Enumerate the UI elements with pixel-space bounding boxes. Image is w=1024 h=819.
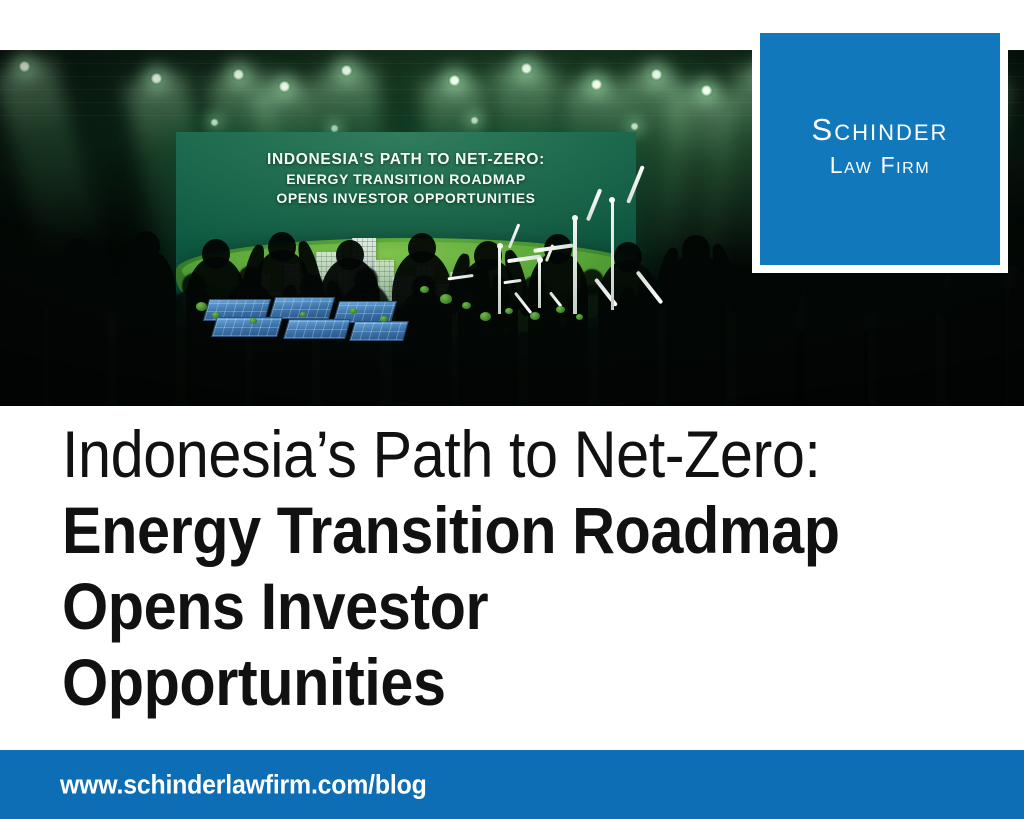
- footer-bar: www.schinderlawfirm.com/blog: [0, 750, 1024, 819]
- tree: [420, 286, 429, 293]
- website-url[interactable]: www.schinderlawfirm.com/blog: [60, 769, 427, 800]
- headline-regular: Indonesia’s Path to Net-Zero:: [62, 417, 820, 491]
- tree: [576, 314, 583, 320]
- tree: [480, 312, 491, 321]
- logo-blue-box: Schinder Law Firm: [760, 33, 1000, 265]
- tree: [556, 306, 565, 313]
- tree: [250, 318, 257, 324]
- tree: [530, 312, 540, 320]
- logo-name-line: Schinder: [760, 114, 1000, 147]
- tree: [380, 316, 388, 322]
- tree: [350, 308, 357, 314]
- page-title: Indonesia’s Path to Net-Zero: Energy Tra…: [62, 416, 854, 720]
- logo-tagline-line: Law Firm: [760, 152, 1000, 179]
- headline-bold: Energy Transition Roadmap Opens Investor…: [62, 493, 840, 719]
- logo-text: Schinder Law Firm: [760, 114, 1000, 179]
- tree: [196, 302, 207, 311]
- tree: [505, 308, 513, 314]
- blog-promo-card: INDONESIA'S PATH TO NET-ZERO: ENERGY TRA…: [0, 0, 1024, 819]
- tree: [300, 312, 306, 317]
- tree: [462, 302, 471, 309]
- tree: [212, 312, 220, 318]
- tree: [440, 294, 452, 304]
- logo: Schinder Law Firm: [752, 25, 1008, 273]
